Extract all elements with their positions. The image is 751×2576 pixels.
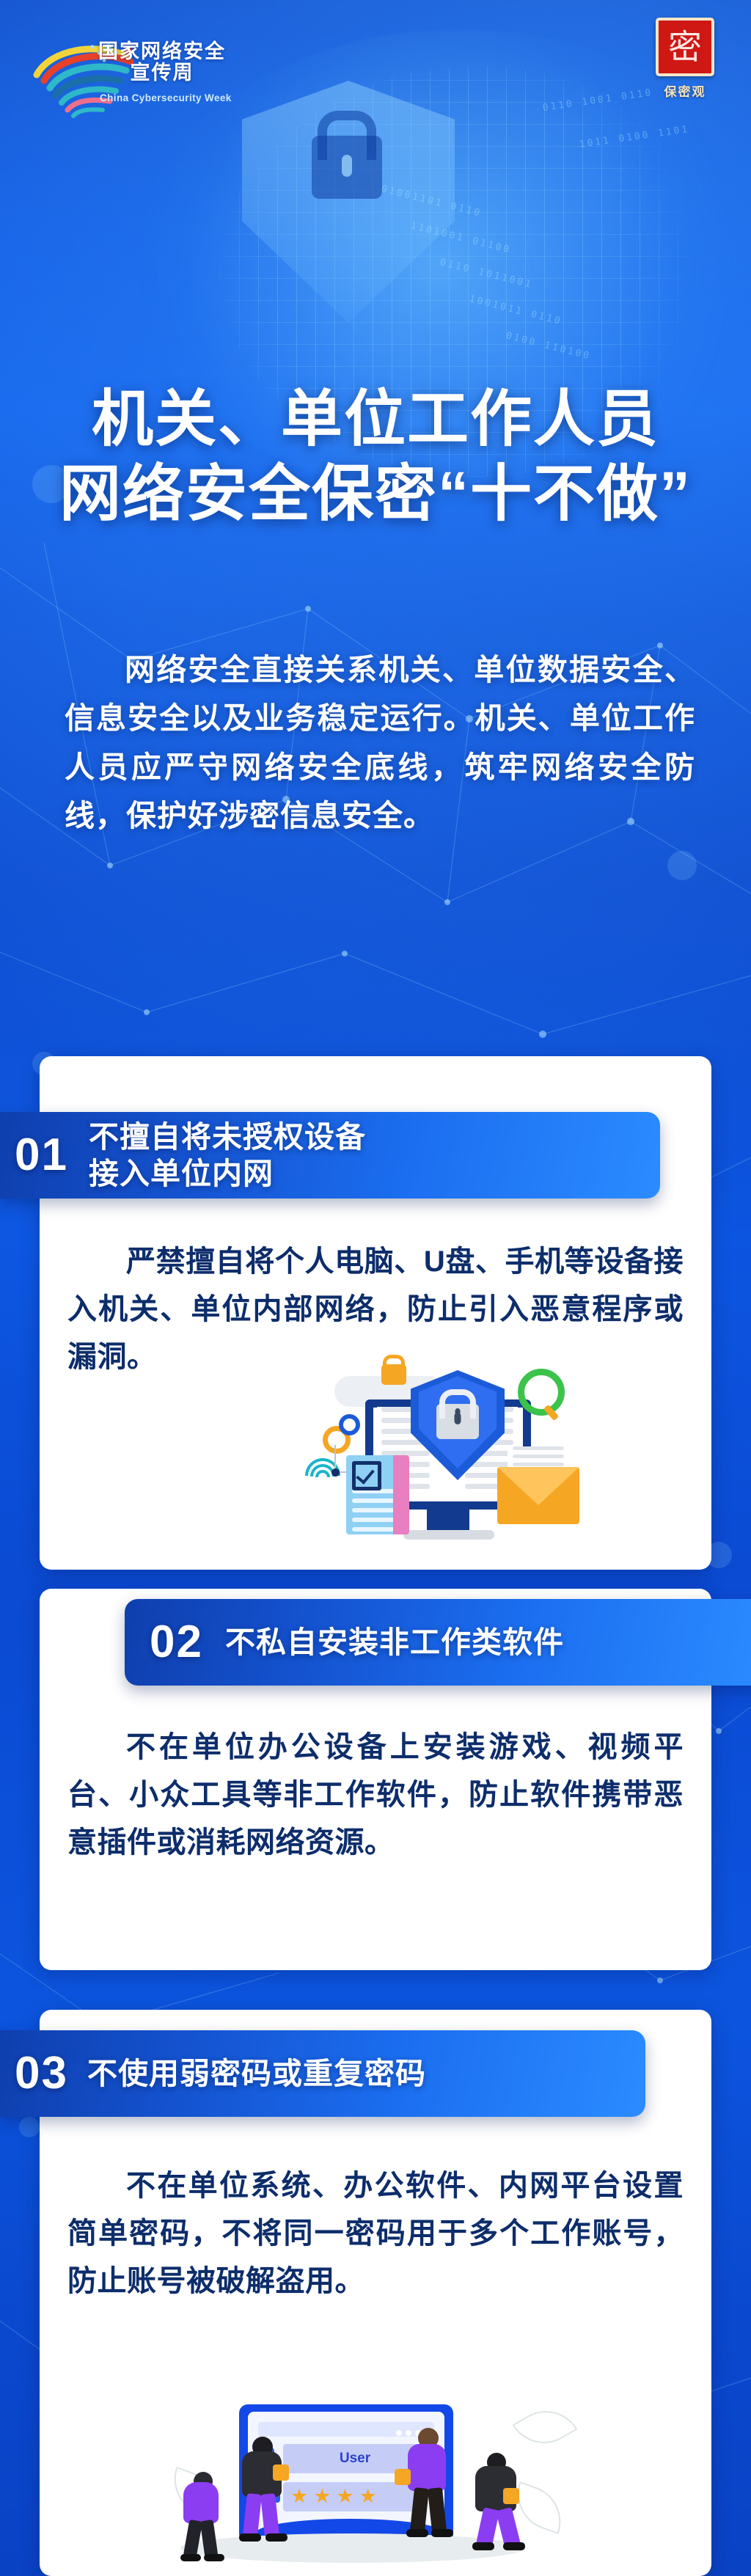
connector-dot bbox=[331, 1468, 340, 1477]
item-title-01-line2: 接入单位内网 bbox=[89, 1155, 366, 1192]
baomiguan-logo: 密 保密观 bbox=[650, 18, 720, 100]
intro-paragraph: 网络安全直接关系机关、单位数据安全、信息安全以及业务稳定运行。机关、单位工作人员… bbox=[65, 645, 695, 841]
item-header-03: 03 不使用弱密码或重复密码 bbox=[0, 2030, 645, 2117]
baomiguan-caption: 保密观 bbox=[650, 81, 720, 100]
person-figure-1 bbox=[179, 2472, 232, 2563]
person-figure-2 bbox=[239, 2437, 292, 2554]
item-title-03-line1: 不使用弱密码或重复密码 bbox=[87, 2055, 426, 2092]
item-title-01: 不擅自将未授权设备 接入单位内网 bbox=[89, 1119, 366, 1192]
checkbox-icon bbox=[352, 1461, 381, 1490]
logo-name-cn: 国家网络安全 宣传周 bbox=[98, 41, 226, 84]
magnifier-icon bbox=[518, 1369, 565, 1416]
page-title-line2: 网络安全保密“十不做” bbox=[0, 456, 751, 531]
person-figure-4 bbox=[471, 2453, 531, 2555]
logo-name-cn-line1: 国家网络安全 bbox=[98, 40, 226, 62]
monitor-stand-neck bbox=[427, 1510, 469, 1530]
item-title-03: 不使用弱密码或重复密码 bbox=[87, 2055, 426, 2092]
item-number-03: 03 bbox=[15, 2051, 68, 2096]
password-mask: ★★★★ bbox=[290, 2487, 382, 2506]
china-cybersecurity-week-logo: 国家网络安全 宣传周 China Cybersecurity Week bbox=[16, 35, 265, 123]
item-body-03: 不在单位系统、办公软件、内网平台设置简单密码，不将同一密码用于多个工作账号，防止… bbox=[67, 2162, 684, 2305]
hero-padlock-icon bbox=[312, 136, 382, 199]
person-figure-3 bbox=[405, 2428, 458, 2554]
seal-glyph: 密 bbox=[668, 30, 702, 64]
puzzle-piece-icon bbox=[503, 2488, 519, 2504]
logo-name-en: China Cybersecurity Week bbox=[100, 92, 232, 103]
infographic-poster: 01001101 0110 1101001 01100 0110 1011001… bbox=[0, 0, 751, 2576]
item-header-02: 02 不私自安装非工作类软件 bbox=[125, 1599, 751, 1686]
item-title-01-line1: 不擅自将未授权设备 bbox=[89, 1119, 366, 1155]
gear-blue-icon bbox=[339, 1414, 360, 1435]
grey-padlock-icon bbox=[436, 1404, 479, 1439]
item-body-01: 严禁擅自将个人电脑、U盘、手机等设备接入机关、单位内部网络，防止引入恶意程序或漏… bbox=[67, 1238, 684, 1380]
yellow-padlock-icon bbox=[381, 1364, 406, 1385]
item-number-01: 01 bbox=[15, 1133, 68, 1178]
page-title-line1: 机关、单位工作人员 bbox=[0, 381, 751, 456]
envelope-icon bbox=[497, 1467, 579, 1524]
illustration-shield-lock-monitor bbox=[301, 1366, 594, 1549]
puzzle-piece-icon bbox=[273, 2465, 289, 2481]
monitor-stand-base bbox=[403, 1530, 494, 1540]
item-title-02-line1: 不私自安装非工作类软件 bbox=[225, 1624, 564, 1661]
logo-name-cn-line2: 宣传周 bbox=[98, 62, 226, 84]
item-header-01: 01 不擅自将未授权设备 接入单位内网 bbox=[0, 1112, 660, 1199]
leaf-decoration-top bbox=[512, 2398, 577, 2456]
item-body-02: 不在单位办公设备上安装游戏、视频平台、小众工具等非工作软件，防止软件携带恶意插件… bbox=[67, 1724, 684, 1866]
item-number-02: 02 bbox=[150, 1620, 203, 1665]
illustration-login-hackers: User ★★★★ bbox=[147, 2404, 601, 2576]
page-title: 机关、单位工作人员 网络安全保密“十不做” bbox=[0, 381, 751, 532]
red-seal-icon: 密 bbox=[656, 18, 714, 76]
item-title-02: 不私自安装非工作类软件 bbox=[225, 1624, 564, 1661]
notepad-binding bbox=[393, 1455, 409, 1534]
puzzle-piece-icon bbox=[395, 2469, 411, 2485]
